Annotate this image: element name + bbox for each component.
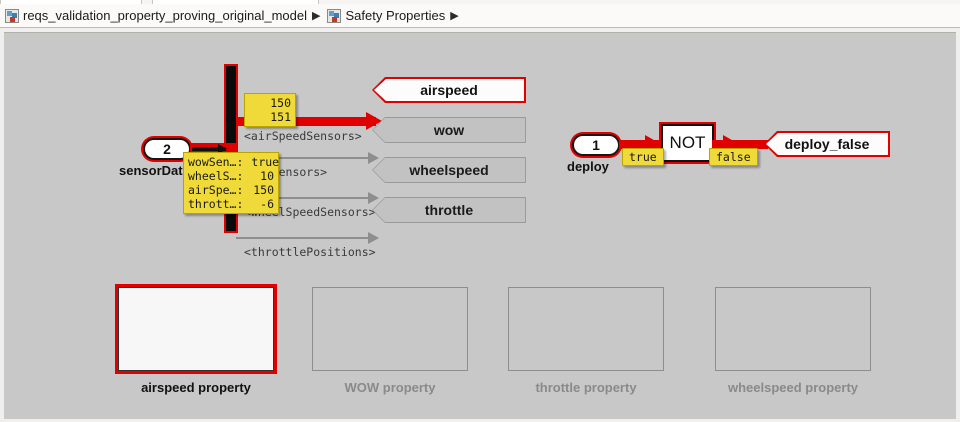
property-block-wheelspeed-caption: wheelspeed property: [715, 380, 871, 395]
tooltip-bus-row: thrott…: -6: [188, 197, 274, 211]
property-block-throttle-frame: [508, 287, 664, 371]
property-block-airspeed-caption: airspeed property: [118, 380, 274, 395]
breadcrumb: reqs_validation_property_proving_origina…: [0, 4, 960, 28]
tooltip-deploy-value-text: true: [629, 150, 657, 164]
outport-wow-label: wow: [373, 118, 525, 142]
simulink-editor-window: reqs_validation_property_proving_origina…: [0, 0, 960, 422]
tooltip-deploy-false-value-text: false: [716, 150, 751, 164]
inport-sensordata-number: 2: [163, 141, 171, 157]
inport-deploy-label: deploy: [567, 159, 609, 174]
breadcrumb-separator-2: ▶: [450, 9, 458, 22]
outport-wheelspeed-label: wheelspeed: [373, 158, 525, 182]
block-diagram-canvas[interactable]: 2 sensorData <airSpeedSensors> <wowSenso…: [4, 32, 956, 419]
tooltip-airspeed-value-1: 151: [270, 110, 291, 124]
outport-throttle[interactable]: throttle: [372, 197, 526, 223]
tooltip-bus-key-0: wowSen…:: [188, 155, 243, 169]
tooltip-bus-value-3: -6: [260, 197, 274, 211]
outport-throttle-label: throttle: [373, 198, 525, 222]
signal-label-throttlepositions: <throttlePositions>: [244, 245, 376, 259]
property-block-wow[interactable]: WOW property: [312, 287, 468, 395]
property-block-wow-caption: WOW property: [312, 380, 468, 395]
wire-wow-arrowhead: [368, 152, 379, 164]
outport-wow[interactable]: wow: [372, 117, 526, 143]
inport-deploy[interactable]: 1: [572, 134, 620, 156]
outport-deploy-false-label: deploy_false: [766, 133, 888, 155]
signal-label-airspeedsensors: <airSpeedSensors>: [244, 129, 362, 143]
wire-throttle[interactable]: [236, 237, 372, 239]
property-block-throttle[interactable]: throttle property: [508, 287, 664, 395]
inport-sensordata-label: sensorData: [119, 163, 190, 178]
breadcrumb-item-subsystem[interactable]: Safety Properties: [327, 8, 445, 23]
tooltip-bus-key-3: thrott…:: [188, 197, 243, 211]
not-block[interactable]: NOT: [661, 124, 714, 162]
outport-airspeed-label: airspeed: [374, 79, 524, 101]
breadcrumb-separator-1: ▶: [312, 9, 320, 22]
tooltip-deploy-value: true: [622, 148, 664, 166]
tooltip-bus-key-1: wheelS…:: [188, 169, 243, 183]
breadcrumb-item-model[interactable]: reqs_validation_property_proving_origina…: [5, 8, 307, 23]
breadcrumb-label-subsystem: Safety Properties: [345, 8, 445, 23]
outport-wheelspeed[interactable]: wheelspeed: [372, 157, 526, 183]
outport-airspeed[interactable]: airspeed: [372, 77, 526, 103]
property-block-wheelspeed-frame: [715, 287, 871, 371]
property-block-airspeed[interactable]: airspeed property: [118, 287, 274, 395]
property-block-wheelspeed[interactable]: wheelspeed property: [715, 287, 871, 395]
tooltip-bus-value-2: 150: [253, 183, 274, 197]
tooltip-bus-value-0: true: [251, 155, 279, 169]
simulink-subsystem-icon: [327, 9, 341, 23]
tooltip-airspeed-values: 150 151: [244, 93, 296, 127]
tooltip-bus-row: wowSen…: true: [188, 155, 274, 169]
tooltip-bus-values: wowSen…: true wheelS…: 10 airSpe…: 150 t…: [183, 152, 279, 214]
breadcrumb-label-model: reqs_validation_property_proving_origina…: [23, 8, 307, 23]
wire-throttle-arrowhead: [368, 232, 379, 244]
tooltip-bus-row: airSpe…: 150: [188, 183, 274, 197]
property-block-airspeed-frame: [118, 287, 274, 371]
tooltip-bus-value-1: 10: [260, 169, 274, 183]
tooltip-bus-key-2: airSpe…:: [188, 183, 243, 197]
tooltip-airspeed-value-0: 150: [270, 96, 291, 110]
not-block-label: NOT: [670, 133, 706, 153]
outport-deploy-false[interactable]: deploy_false: [764, 131, 890, 157]
inport-deploy-number: 1: [592, 137, 600, 153]
simulink-model-icon: [5, 9, 19, 23]
property-block-throttle-caption: throttle property: [508, 380, 664, 395]
tooltip-bus-row: wheelS…: 10: [188, 169, 274, 183]
property-block-wow-frame: [312, 287, 468, 371]
wire-wheelspeed-arrowhead: [368, 192, 379, 204]
tooltip-deploy-false-value: false: [709, 148, 758, 166]
